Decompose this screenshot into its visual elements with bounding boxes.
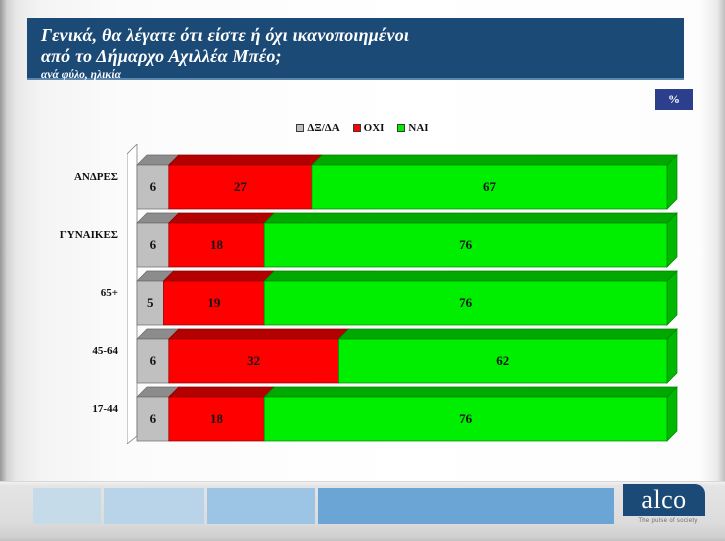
legend-swatch-icon xyxy=(296,124,304,132)
bar-side-face xyxy=(667,155,677,209)
bar-top-face xyxy=(169,213,274,223)
bar-segment-ΝΑΙ xyxy=(264,397,667,441)
title-line-1: Γενικά, θα λέγατε ότι είστε ή όχι ικανοπ… xyxy=(41,25,684,46)
bar-segment-ΟΧΙ xyxy=(164,281,265,325)
bar-top-face xyxy=(264,387,677,397)
legend-swatch-icon xyxy=(397,124,405,132)
bar-top-face xyxy=(169,387,274,397)
category-label-ΓΥΝΑΙΚΕΣ: ΓΥΝΑΙΚΕΣ xyxy=(8,213,118,257)
bar-top-face xyxy=(264,271,677,281)
footer-bar xyxy=(0,481,725,541)
bar-top-face xyxy=(169,329,349,339)
bar-segment-ΟΧΙ xyxy=(169,223,264,267)
legend-item-ΝΑΙ[interactable]: ΝΑΙ xyxy=(397,122,428,134)
percent-unit-badge: % xyxy=(655,89,693,110)
footer-segment-3 xyxy=(207,488,315,524)
bar-segment-ΔΞ/ΔΑ xyxy=(137,223,169,267)
footer-segment-1 xyxy=(33,488,101,524)
bar-top-face xyxy=(164,271,275,281)
bar-segment-ΔΞ/ΔΑ xyxy=(137,165,169,209)
chart-area: ΔΞ/ΔΑΟΧΙΝΑΙ ΑΝΔΡΕΣΓΥΝΑΙΚΕΣ65+45-6417-44 … xyxy=(0,112,725,452)
bar-segment-ΟΧΙ xyxy=(169,397,264,441)
table-row xyxy=(137,271,681,315)
bar-segment-ΝΑΙ xyxy=(264,281,667,325)
title-banner: Γενικά, θα λέγατε ότι είστε ή όχι ικανοπ… xyxy=(27,18,684,80)
table-row xyxy=(137,329,681,373)
legend-item-label: ΟΧΙ xyxy=(364,122,385,134)
bar-segment-ΟΧΙ xyxy=(169,165,312,209)
chart-legend: ΔΞ/ΔΑΟΧΙΝΑΙ xyxy=(0,122,725,134)
category-label-17-44: 17-44 xyxy=(8,387,118,431)
bar-top-face xyxy=(312,155,677,165)
bar-side-face xyxy=(667,271,677,325)
title-subtitle: ανά φύλο, ηλικία xyxy=(41,68,684,82)
bar-side-face xyxy=(667,213,677,267)
table-row xyxy=(137,387,681,431)
title-line-2: από το Δήμαρχο Αχιλλέα Μπέο; xyxy=(41,46,684,67)
category-label-65+: 65+ xyxy=(8,271,118,315)
footer-segment-4 xyxy=(318,488,614,524)
legend-item-ΟΧΙ[interactable]: ΟΧΙ xyxy=(353,122,385,134)
bar-segment-ΔΞ/ΔΑ xyxy=(137,281,164,325)
alco-logo: alco xyxy=(623,484,705,516)
legend-swatch-icon xyxy=(353,124,361,132)
bar-segment-ΝΑΙ xyxy=(338,339,667,383)
legend-item-label: ΝΑΙ xyxy=(408,122,428,134)
bar-segment-ΔΞ/ΔΑ xyxy=(137,339,169,383)
bar-segment-ΔΞ/ΔΑ xyxy=(137,397,169,441)
alco-logo-tagline: The pulse of society xyxy=(620,518,716,524)
bar-top-face xyxy=(338,329,677,339)
plot-area xyxy=(127,144,673,444)
bar-top-face xyxy=(169,155,322,165)
category-label-ΑΝΔΡΕΣ: ΑΝΔΡΕΣ xyxy=(8,155,118,199)
bar-segment-ΝΑΙ xyxy=(312,165,667,209)
footer-segment-2 xyxy=(104,488,204,524)
bar-segment-ΝΑΙ xyxy=(264,223,667,267)
legend-item-label: ΔΞ/ΔΑ xyxy=(307,122,339,134)
bar-top-face xyxy=(264,213,677,223)
table-row xyxy=(137,213,681,257)
legend-item-ΔΞ/ΔΑ[interactable]: ΔΞ/ΔΑ xyxy=(296,122,339,134)
bar-side-face xyxy=(667,329,677,383)
bar-segment-ΟΧΙ xyxy=(169,339,339,383)
table-row xyxy=(137,155,681,199)
category-label-45-64: 45-64 xyxy=(8,329,118,373)
bar-side-face xyxy=(667,387,677,441)
